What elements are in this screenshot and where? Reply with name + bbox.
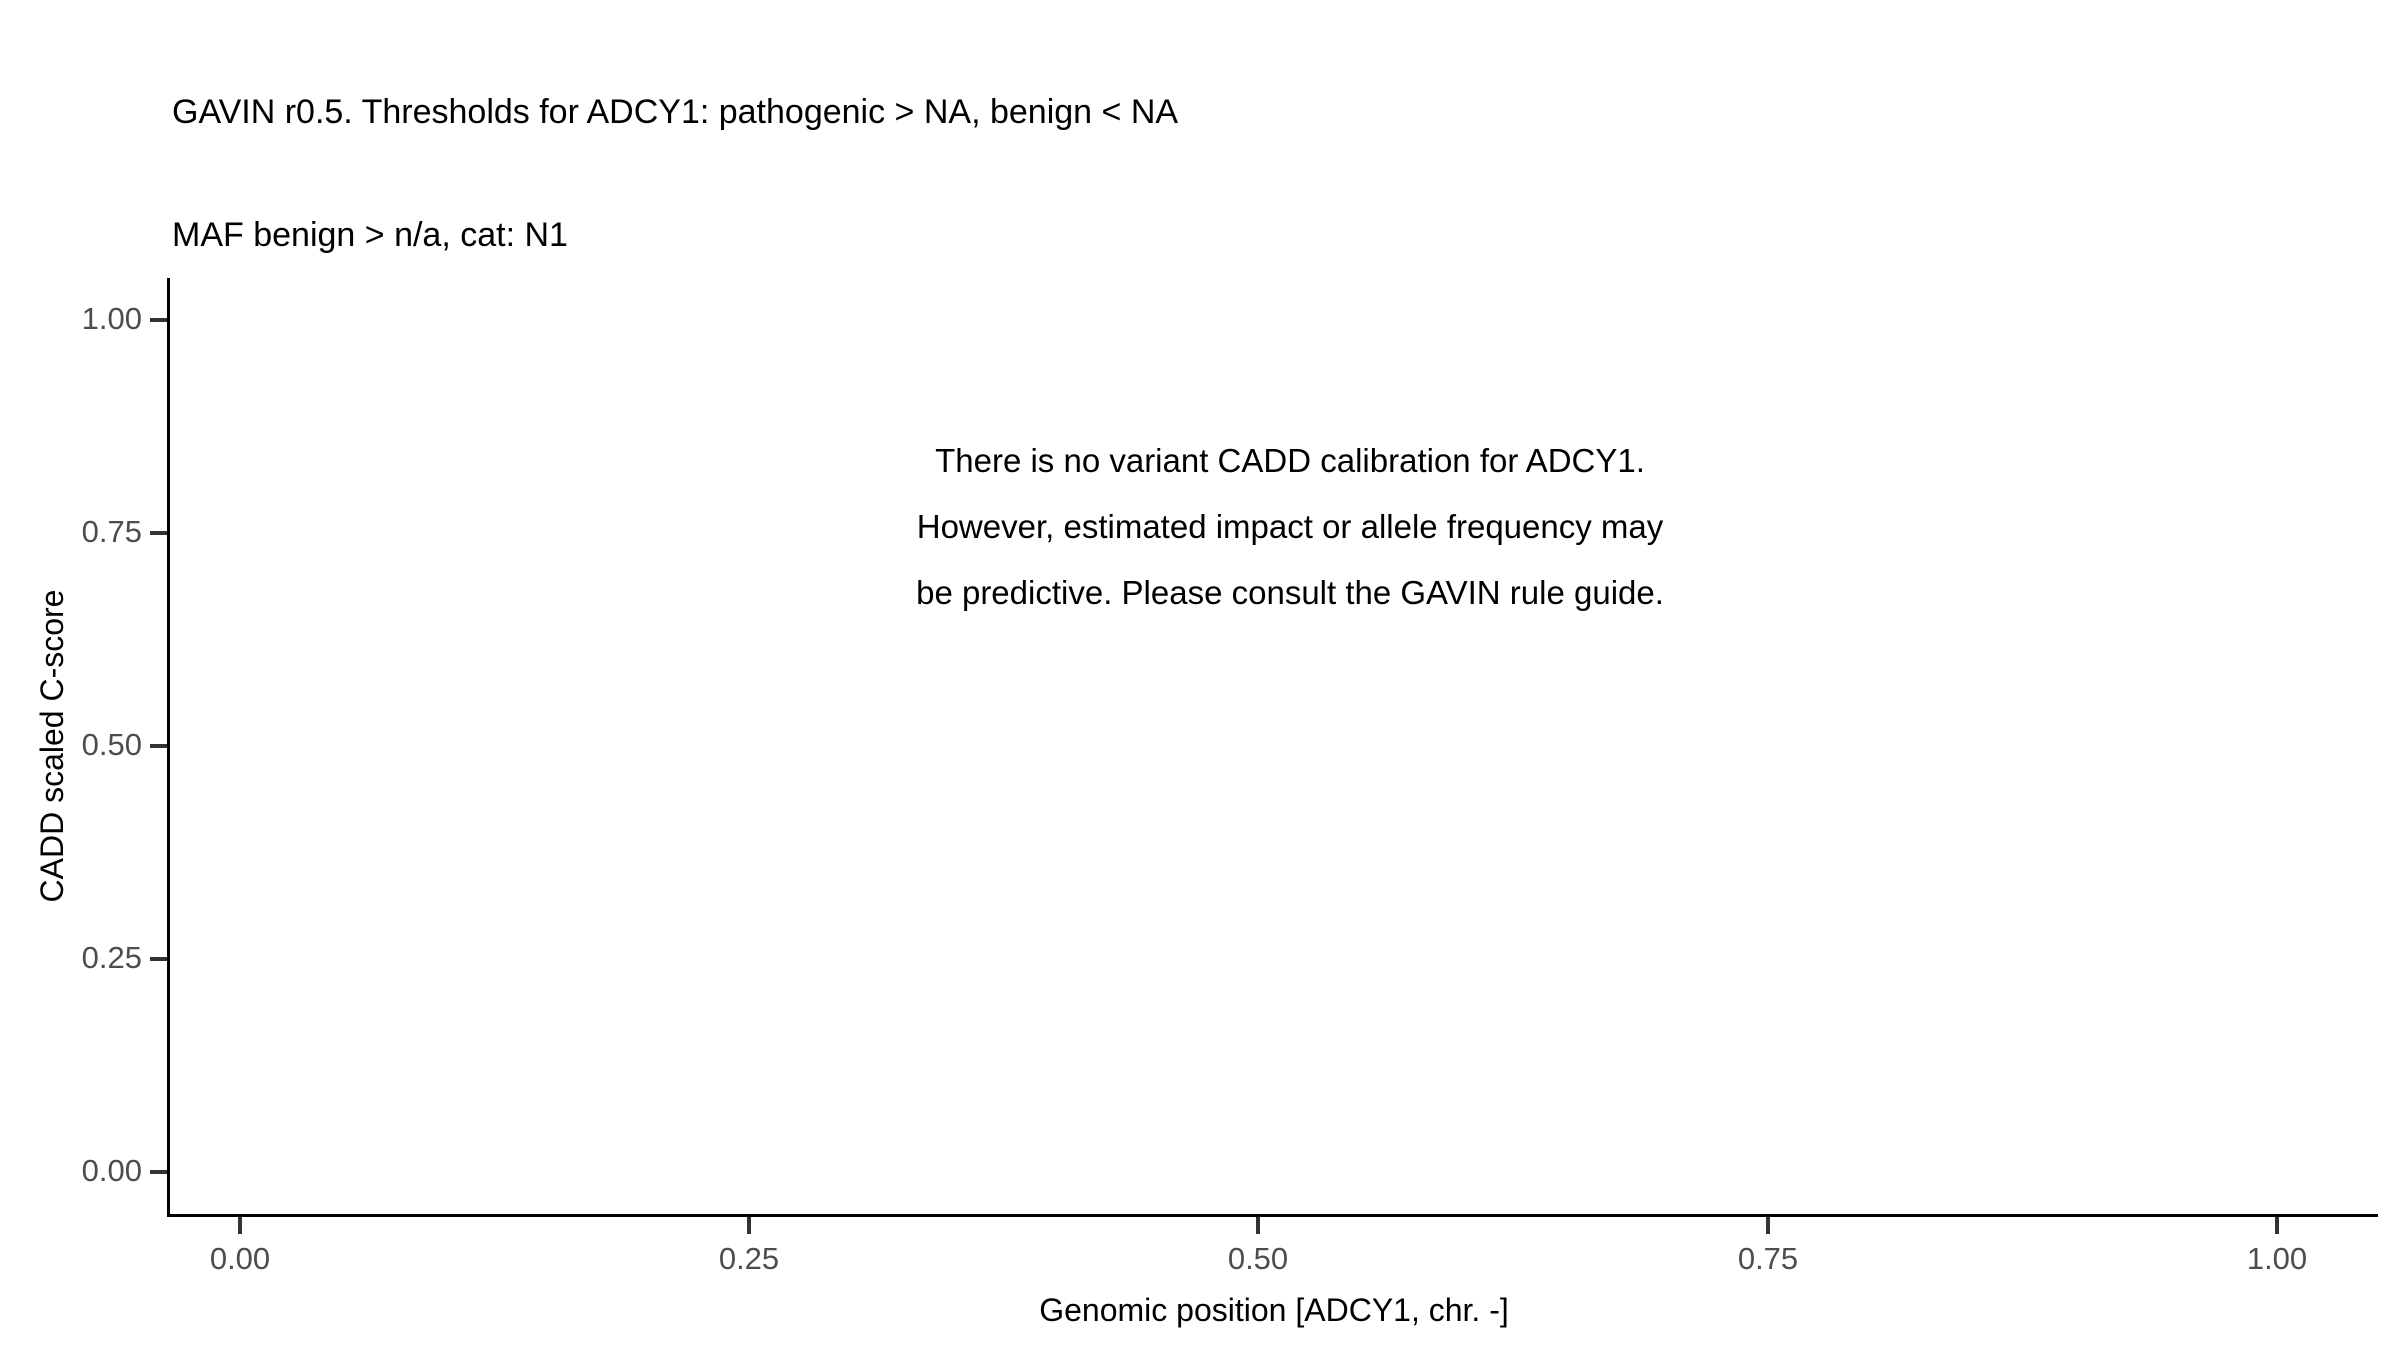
annotation-line-2: However, estimated impact or allele freq… — [290, 494, 2290, 560]
y-axis-title: CADD scaled C-score — [34, 396, 71, 1096]
chart-title-line-2: MAF benign > n/a, cat: N1 — [172, 215, 2372, 256]
y-tick-label: 0.00 — [82, 1153, 142, 1189]
y-tick-label: 0.25 — [82, 940, 142, 976]
chart-title-line-1: GAVIN r0.5. Thresholds for ADCY1: pathog… — [172, 92, 2372, 133]
x-tick-mark — [2275, 1217, 2279, 1234]
x-axis-title: Genomic position [ADCY1, chr. -] — [170, 1292, 2378, 1329]
x-tick-label: 0.25 — [649, 1241, 849, 1277]
x-tick-mark — [1766, 1217, 1770, 1234]
chart-figure: GAVIN r0.5. Thresholds for ADCY1: pathog… — [0, 0, 2400, 1350]
y-tick-mark — [150, 744, 167, 748]
x-tick-label: 0.50 — [1158, 1241, 1358, 1277]
y-tick-mark — [150, 957, 167, 961]
annotation-line-3: be predictive. Please consult the GAVIN … — [290, 560, 2290, 626]
x-tick-label: 0.00 — [140, 1241, 340, 1277]
y-tick-label: 0.50 — [82, 727, 142, 763]
y-tick-mark — [150, 1170, 167, 1174]
x-tick-mark — [1256, 1217, 1260, 1234]
x-tick-label: 0.75 — [1668, 1241, 1868, 1277]
x-tick-label: 1.00 — [2177, 1241, 2377, 1277]
x-tick-mark — [238, 1217, 242, 1234]
x-tick-mark — [747, 1217, 751, 1234]
annotation-line-1: There is no variant CADD calibration for… — [290, 428, 2290, 494]
plot-panel — [170, 278, 2378, 1214]
y-tick-label: 0.75 — [82, 514, 142, 550]
no-calibration-annotation: There is no variant CADD calibration for… — [290, 428, 2290, 626]
y-tick-label: 1.00 — [82, 301, 142, 337]
y-tick-mark — [150, 318, 167, 322]
y-tick-mark — [150, 531, 167, 535]
